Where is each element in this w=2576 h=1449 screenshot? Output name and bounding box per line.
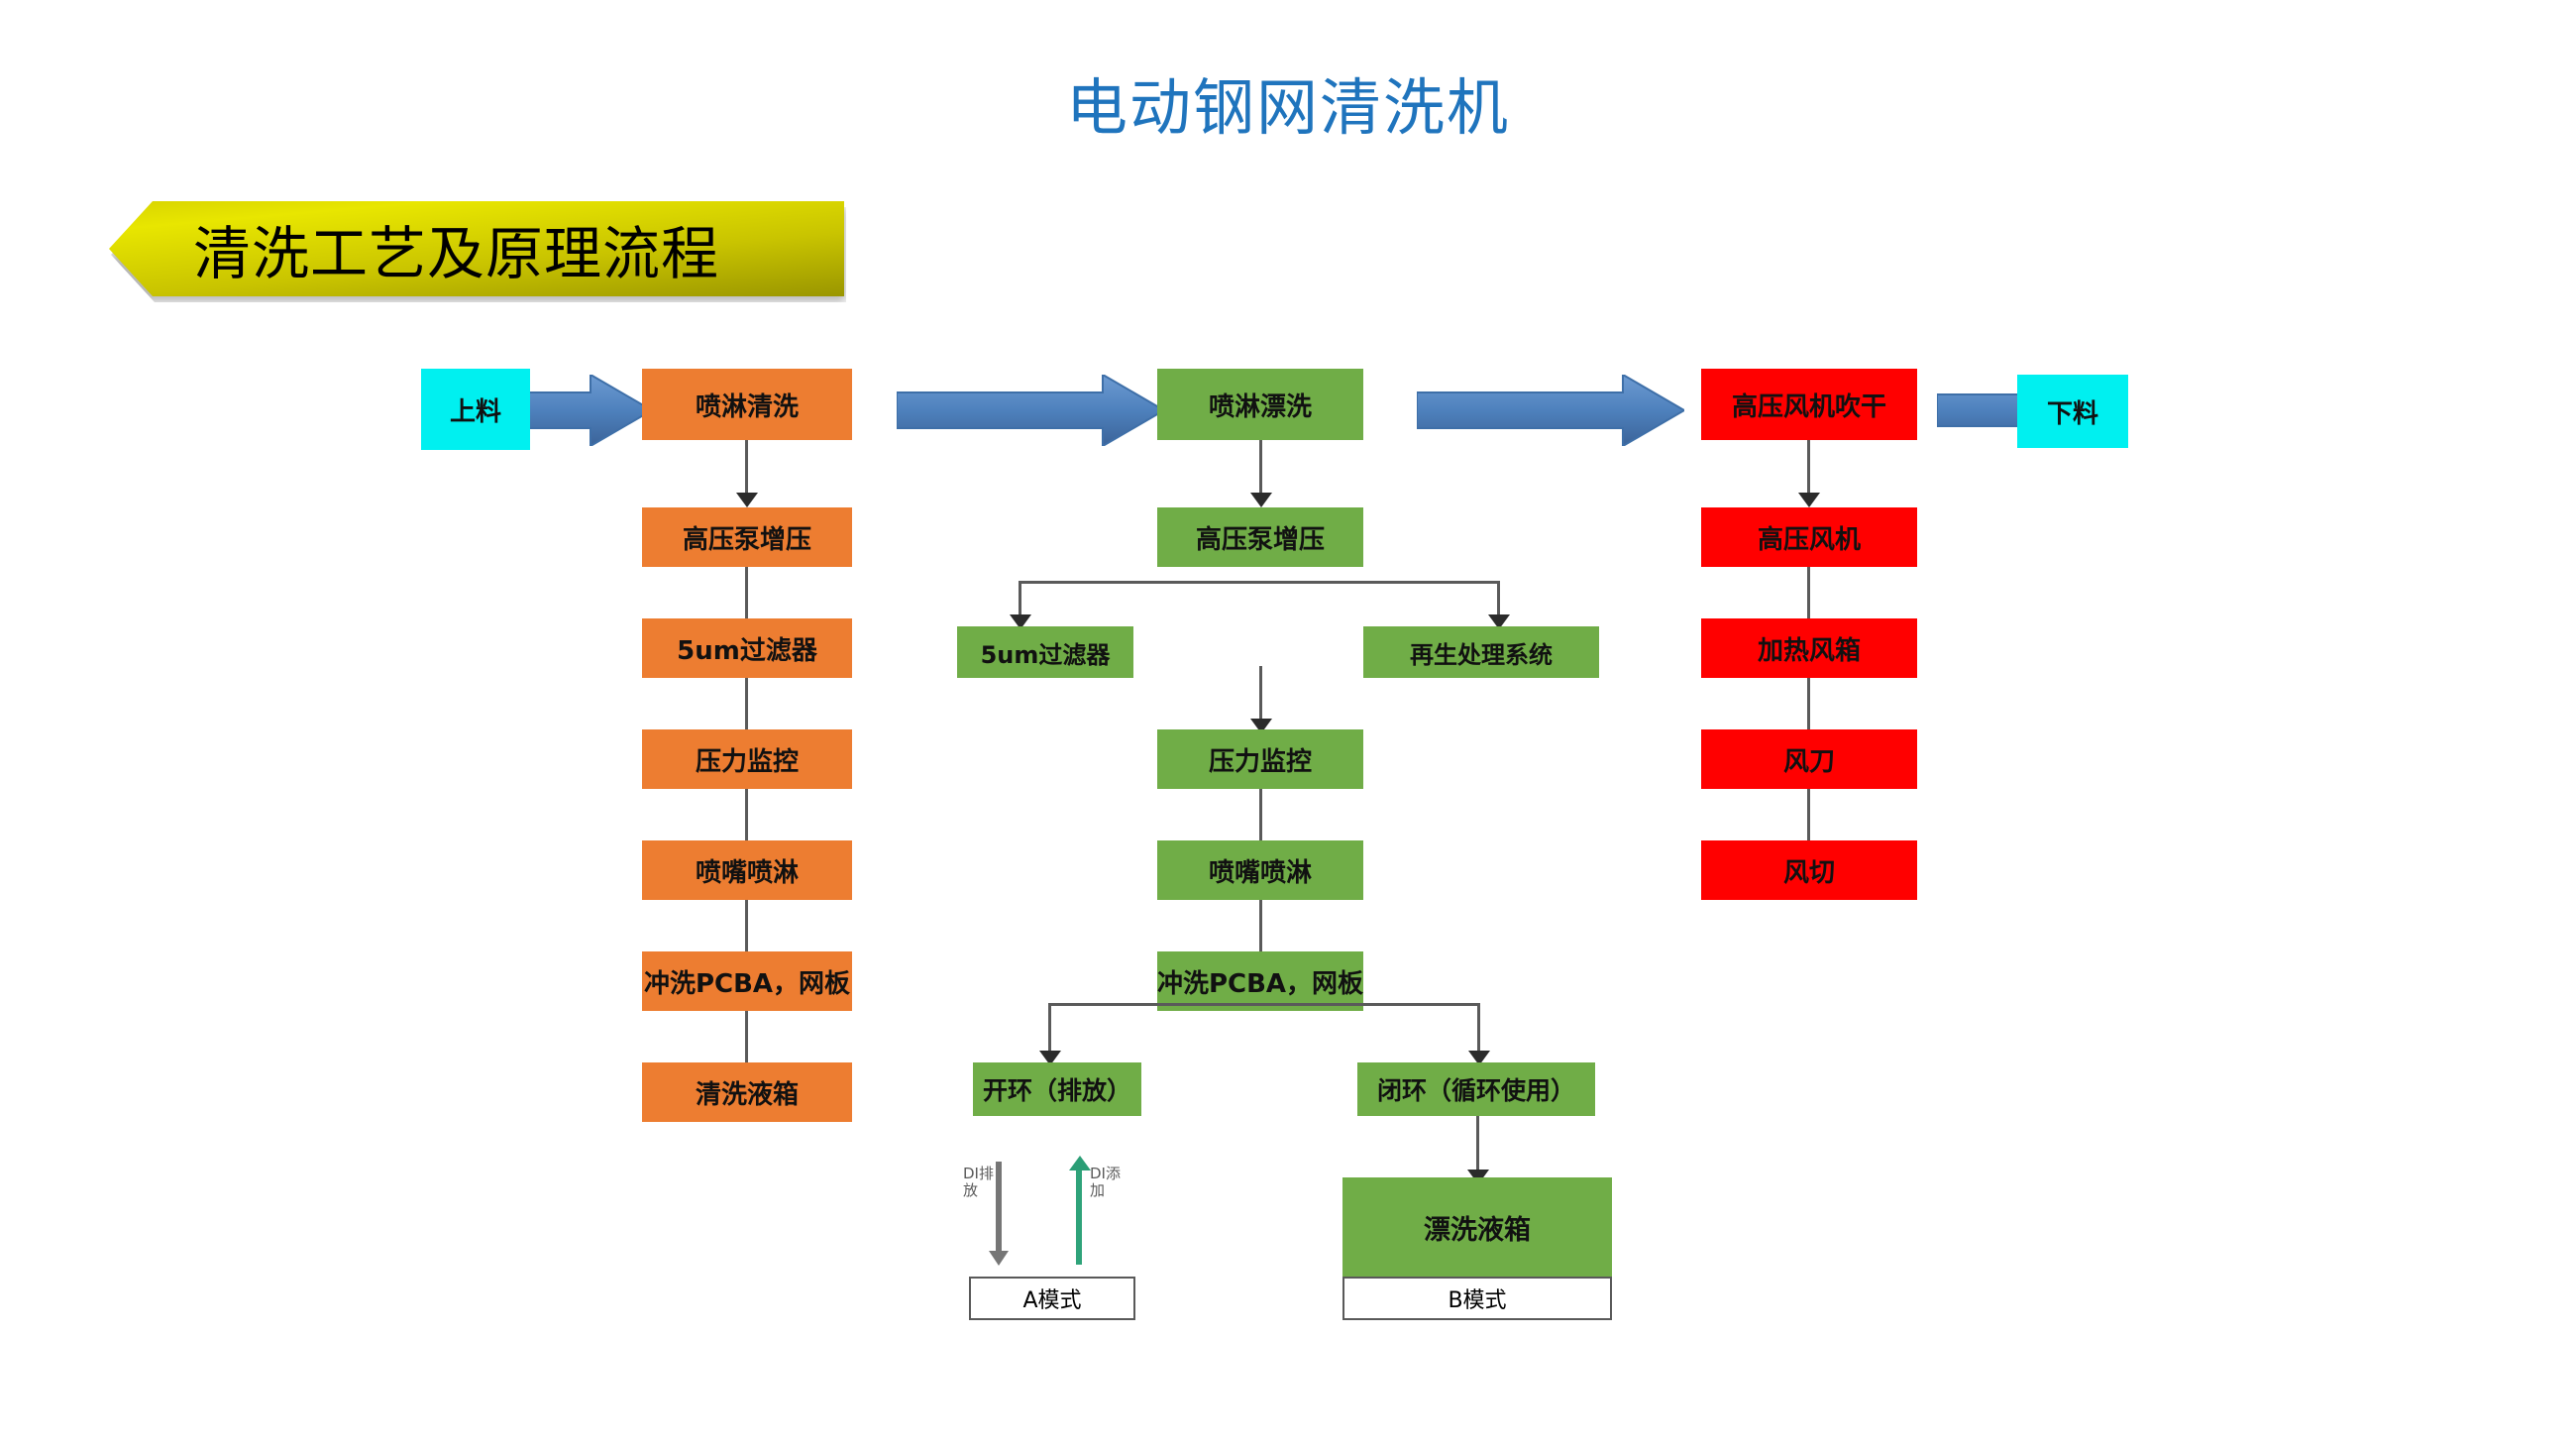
node-closed-loop-label: 闭环（循环使用） — [1377, 1071, 1575, 1107]
node-dry-step-1[interactable]: 加热风箱 — [1701, 618, 1917, 678]
connector-wash-6 — [745, 1011, 748, 1068]
node-rinse-step-1-label: 压力监控 — [1209, 741, 1312, 778]
node-open-loop[interactable]: 开环（排放） — [973, 1062, 1141, 1116]
node-rinse-step-3[interactable]: 冲洗PCBA，网板 — [1157, 951, 1363, 1011]
node-rinse-step-1[interactable]: 压力监控 — [1157, 729, 1363, 789]
node-wash-step-2[interactable]: 压力监控 — [642, 729, 852, 789]
node-dry-step-0-label: 高压风机 — [1758, 519, 1861, 556]
node-exit[interactable]: 下料 — [2017, 375, 2128, 448]
node-dry-head-label: 高压风机吹干 — [1732, 387, 1886, 423]
slide-canvas: 电动钢网清洗机 清洗工艺及原理流程 — [0, 0, 2576, 1449]
connector-dry-2 — [1807, 567, 1810, 624]
di-drain-arrowhead — [989, 1251, 1009, 1266]
page-title: 电动钢网清洗机 — [0, 77, 2576, 139]
node-rinse-tank[interactable]: 漂洗液箱 — [1342, 1177, 1612, 1277]
node-wash-step-1-label: 5um过滤器 — [677, 630, 817, 667]
node-mode-a-label: A模式 — [1022, 1282, 1081, 1314]
di-add-arrowhead — [1069, 1156, 1091, 1170]
node-wash-head[interactable]: 喷淋清洗 — [642, 369, 852, 440]
connector-wash-1 — [745, 440, 748, 498]
node-exit-label: 下料 — [2047, 393, 2098, 430]
di-add-label: DI添加 — [1090, 1166, 1129, 1200]
connector-dry-1 — [1807, 440, 1810, 498]
connector-rinse-4 — [1259, 900, 1262, 957]
node-mode-b-label: B模式 — [1448, 1282, 1506, 1314]
node-wash-step-1[interactable]: 5um过滤器 — [642, 618, 852, 678]
connector-rinse-split-h — [1019, 581, 1500, 584]
connector-rinse-1 — [1259, 440, 1262, 498]
node-rinse-step-2[interactable]: 喷嘴喷淋 — [1157, 840, 1363, 900]
node-dry-step-1-label: 加热风箱 — [1758, 630, 1861, 667]
node-rinse-step-2-label: 喷嘴喷淋 — [1209, 852, 1312, 889]
node-rinse-branch-regen-label: 再生处理系统 — [1410, 635, 1553, 670]
node-wash-step-5[interactable]: 清洗液箱 — [642, 1062, 852, 1122]
connector-rinse-loop-left — [1048, 1003, 1051, 1057]
node-entry-label: 上料 — [450, 391, 501, 428]
node-dry-step-3[interactable]: 风切 — [1701, 840, 1917, 900]
node-rinse-tank-label: 漂洗液箱 — [1424, 1208, 1531, 1247]
node-open-loop-label: 开环（排放） — [983, 1071, 1131, 1107]
node-dry-step-2[interactable]: 风刀 — [1701, 729, 1917, 789]
connector-rinse-3 — [1259, 789, 1262, 846]
arrowhead-wash-1 — [736, 493, 758, 507]
arrowhead-rinse-1 — [1250, 493, 1272, 507]
connector-tank — [1476, 1116, 1479, 1175]
connector-wash-4 — [745, 789, 748, 846]
big-arrow-3 — [1417, 375, 1684, 446]
connector-rinse-loop-right — [1477, 1003, 1480, 1057]
di-drain-label: DI排放 — [963, 1166, 997, 1200]
node-wash-head-label: 喷淋清洗 — [696, 387, 799, 423]
di-add-line — [1076, 1170, 1082, 1265]
node-closed-loop[interactable]: 闭环（循环使用） — [1357, 1062, 1595, 1116]
node-wash-step-2-label: 压力监控 — [696, 741, 799, 778]
node-wash-step-3[interactable]: 喷嘴喷淋 — [642, 840, 852, 900]
node-rinse-step-3-label: 冲洗PCBA，网板 — [1157, 963, 1363, 1000]
connector-dry-3 — [1807, 678, 1810, 735]
connector-rinse-loop-h — [1048, 1003, 1480, 1006]
arrowhead-dry-1 — [1798, 493, 1820, 507]
connector-wash-5 — [745, 900, 748, 957]
node-wash-step-4[interactable]: 冲洗PCBA，网板 — [642, 951, 852, 1011]
connector-wash-2 — [745, 567, 748, 624]
node-rinse-head-label: 喷淋漂洗 — [1209, 387, 1312, 423]
node-rinse-branch-filter[interactable]: 5um过滤器 — [957, 626, 1133, 678]
section-banner-label: 清洗工艺及原理流程 — [193, 203, 847, 294]
node-wash-step-3-label: 喷嘴喷淋 — [696, 852, 799, 889]
node-rinse-branch-regen[interactable]: 再生处理系统 — [1363, 626, 1599, 678]
connector-rinse-2 — [1259, 666, 1262, 724]
node-entry[interactable]: 上料 — [421, 369, 530, 450]
node-wash-step-4-label: 冲洗PCBA，网板 — [644, 963, 850, 1000]
node-rinse-branch-filter-label: 5um过滤器 — [981, 635, 1111, 670]
node-rinse-step-0[interactable]: 高压泵增压 — [1157, 507, 1363, 567]
node-dry-step-2-label: 风刀 — [1783, 741, 1835, 778]
node-wash-step-0-label: 高压泵增压 — [683, 519, 811, 556]
node-dry-step-3-label: 风切 — [1783, 852, 1835, 889]
connector-wash-3 — [745, 678, 748, 735]
big-arrow-2 — [897, 375, 1164, 446]
node-mode-b[interactable]: B模式 — [1342, 1277, 1612, 1320]
node-rinse-step-0-label: 高压泵增压 — [1196, 519, 1325, 556]
node-wash-step-0[interactable]: 高压泵增压 — [642, 507, 852, 567]
node-dry-step-0[interactable]: 高压风机 — [1701, 507, 1917, 567]
node-wash-step-5-label: 清洗液箱 — [696, 1074, 799, 1111]
node-rinse-head[interactable]: 喷淋漂洗 — [1157, 369, 1363, 440]
connector-dry-4 — [1807, 789, 1810, 846]
node-mode-a[interactable]: A模式 — [969, 1277, 1135, 1320]
node-dry-head[interactable]: 高压风机吹干 — [1701, 369, 1917, 440]
